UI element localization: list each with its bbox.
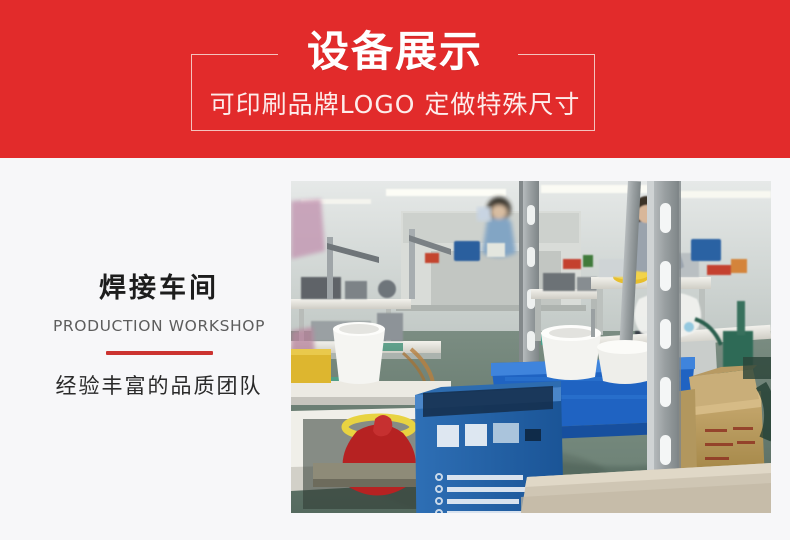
caption-tagline: 经验丰富的品质团队 [46, 371, 272, 401]
workshop-photo-illustration [291, 181, 771, 513]
caption-divider [106, 351, 213, 355]
page-subtitle: 可印刷品牌LOGO 定做特殊尺寸 [0, 88, 790, 122]
page-title: 设备展示 [0, 26, 790, 78]
caption-title-en: PRODUCTION WORKSHOP [46, 314, 272, 338]
section-caption: 焊接车间 PRODUCTION WORKSHOP 经验丰富的品质团队 [46, 272, 272, 401]
caption-title-cn: 焊接车间 [46, 272, 272, 306]
workshop-photo [291, 181, 771, 513]
promo-page: 设备展示 可印刷品牌LOGO 定做特殊尺寸 焊接车间 PRODUCTION WO… [0, 0, 790, 540]
header-banner: 设备展示 可印刷品牌LOGO 定做特殊尺寸 [0, 0, 790, 158]
